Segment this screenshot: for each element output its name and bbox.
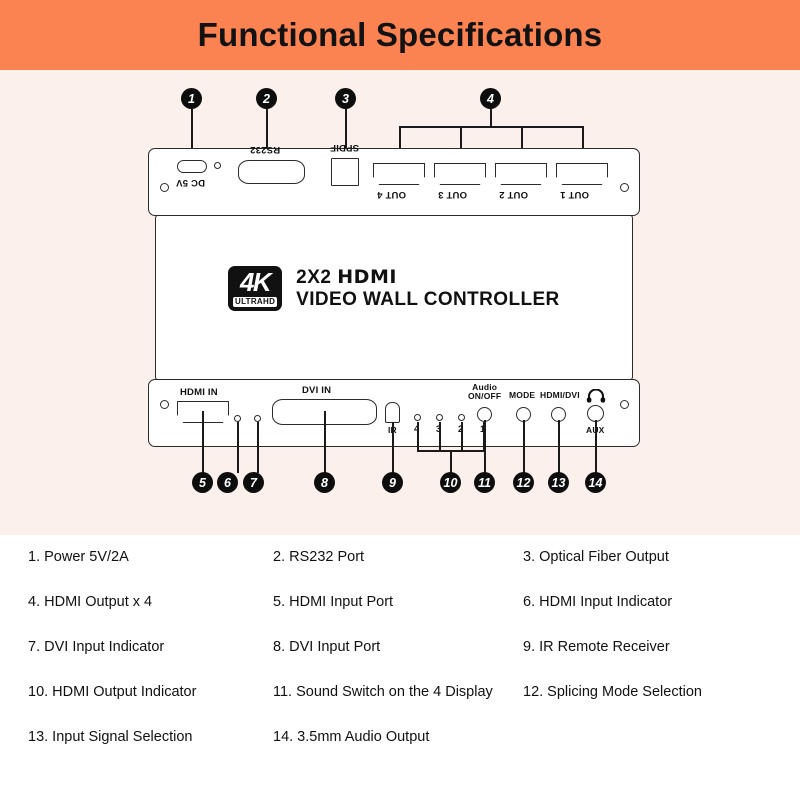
spdif-optical-port[interactable]: [331, 158, 359, 186]
leader-line-11: [484, 420, 486, 473]
brand-text-group: 2X2 HDMI VIDEO WALL CONTROLLER: [296, 267, 560, 310]
callout-8: 8: [314, 472, 335, 493]
hdmi-out-3-port[interactable]: [434, 163, 486, 185]
hdmi-out-1-port[interactable]: [556, 163, 608, 185]
leader-branch-10-led3: [439, 422, 441, 452]
legend-item: 2. RS232 Port: [273, 549, 523, 565]
legend-item: 10. HDMI Output Indicator: [28, 684, 273, 700]
hdmi-out-2-port[interactable]: [495, 163, 547, 185]
callout-2: 2: [256, 88, 277, 109]
hdmi-output-indicator-led-4: [414, 414, 421, 421]
callout-5: 5: [192, 472, 213, 493]
leader-branch-10-led4: [417, 422, 419, 452]
leader-line-9: [392, 422, 394, 473]
device-diagram: DC 5V RS232 SPDIF OUT 4 OUT 3 OUT 2 OUT …: [0, 70, 800, 535]
legend-item: 5. HDMI Input Port: [273, 594, 523, 610]
brand-product-line: VIDEO WALL CONTROLLER: [296, 289, 560, 310]
leader-line-4: [490, 106, 492, 128]
leader-line-12: [523, 420, 525, 473]
callout-13: 13: [548, 472, 569, 493]
legend-item: 8. DVI Input Port: [273, 639, 523, 655]
leader-line-10: [450, 450, 452, 473]
callout-3: 3: [335, 88, 356, 109]
label-out-4: OUT 4: [377, 189, 406, 200]
label-audio-line2: ON/OFF: [468, 391, 501, 401]
legend-item: 11. Sound Switch on the 4 Display: [273, 684, 523, 700]
callout-12: 12: [513, 472, 534, 493]
callout-11: 11: [474, 472, 495, 493]
legend-grid: 1. Power 5V/2A 2. RS232 Port 3. Optical …: [28, 549, 780, 745]
legend-item: 12. Splicing Mode Selection: [523, 684, 778, 700]
label-hdmi-dvi: HDMI/DVI: [540, 390, 580, 400]
dc-power-jack[interactable]: [177, 160, 207, 173]
legend-section: 1. Power 5V/2A 2. RS232 Port 3. Optical …: [0, 535, 800, 800]
leader-line-7: [257, 422, 259, 473]
ir-receiver: [385, 402, 400, 423]
dvi-input-indicator-led: [254, 415, 261, 422]
callout-10: 10: [440, 472, 461, 493]
legend-item: 13. Input Signal Selection: [28, 729, 273, 745]
hdmi-out-4-port[interactable]: [373, 163, 425, 185]
label-rs232: RS232: [250, 144, 280, 155]
leader-line-14: [595, 420, 597, 473]
4k-ultrahd-badge: 4K ULTRAHD: [228, 266, 282, 311]
legend-item: 4. HDMI Output x 4: [28, 594, 273, 610]
label-out-1: OUT 1: [560, 189, 589, 200]
hdmi-wordmark: HDMI: [337, 266, 397, 288]
callout-6: 6: [217, 472, 238, 493]
callout-7: 7: [243, 472, 264, 493]
screw-hole-rear-right: [620, 183, 629, 192]
screw-hole-front-right: [620, 400, 629, 409]
badge-4k-label: 4K: [233, 269, 277, 295]
brand-logo-group: 4K ULTRAHD 2X2 HDMI VIDEO WALL CONTROLLE…: [228, 266, 560, 311]
leader-bracket-4: [399, 126, 583, 128]
callout-1: 1: [181, 88, 202, 109]
header-banner: Functional Specifications: [0, 0, 800, 70]
brand-model-prefix: 2X2: [296, 267, 337, 288]
hdmi-output-indicator-led-2: [458, 414, 465, 421]
label-dc-5v: DC 5V: [176, 177, 205, 188]
page-title: Functional Specifications: [198, 16, 603, 54]
label-mode: MODE: [509, 390, 535, 400]
legend-item: 14. 3.5mm Audio Output: [273, 729, 523, 745]
label-audio-on-off: Audio ON/OFF: [468, 383, 501, 401]
leader-line-13: [558, 420, 560, 473]
legend-item: 9. IR Remote Receiver: [523, 639, 778, 655]
label-hdmi-in: HDMI IN: [180, 387, 218, 398]
label-out-3: OUT 3: [438, 189, 467, 200]
hdmi-output-indicator-led-3: [436, 414, 443, 421]
label-spdif: SPDIF: [330, 142, 359, 153]
legend-item: 1. Power 5V/2A: [28, 549, 273, 565]
callout-9: 9: [382, 472, 403, 493]
badge-ultrahd-label: ULTRAHD: [233, 297, 277, 307]
label-out-2: OUT 2: [499, 189, 528, 200]
brand-model-line: 2X2 HDMI: [296, 267, 560, 288]
callout-4: 4: [480, 88, 501, 109]
screw-hole-front-left: [160, 400, 169, 409]
legend-item: 6. HDMI Input Indicator: [523, 594, 778, 610]
legend-item: 3. Optical Fiber Output: [523, 549, 778, 565]
headphone-icon: [586, 389, 606, 403]
leader-line-6: [237, 422, 239, 473]
rear-indicator-hole: [214, 162, 221, 169]
leader-line-5: [202, 411, 204, 473]
callout-14: 14: [585, 472, 606, 493]
label-dvi-in: DVI IN: [302, 385, 331, 396]
rs232-port[interactable]: [238, 160, 305, 184]
screw-hole-rear-left: [160, 183, 169, 192]
leader-branch-10-led2: [461, 422, 463, 452]
hdmi-input-indicator-led: [234, 415, 241, 422]
legend-item: 7. DVI Input Indicator: [28, 639, 273, 655]
leader-line-8: [324, 411, 326, 473]
